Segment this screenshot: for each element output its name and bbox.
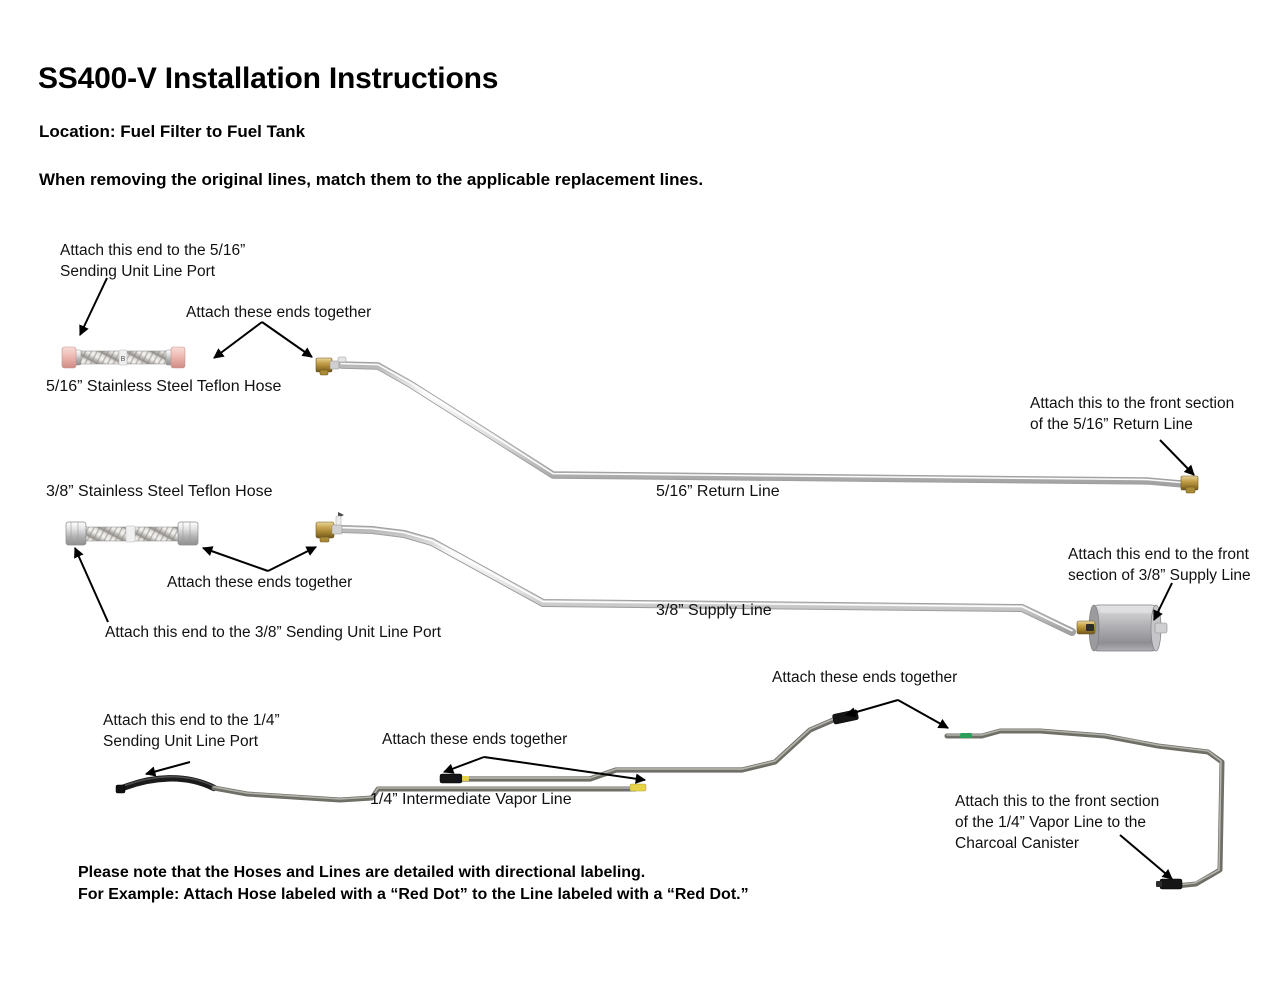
annotation-attach-ends-516: Attach these ends together xyxy=(186,302,371,323)
charcoal-canister-end-connector xyxy=(1156,879,1182,889)
part-label-line-38-supply: 3/8” Supply Line xyxy=(656,602,772,620)
arrow-attach-516-right xyxy=(262,322,312,357)
svg-text:B: B xyxy=(121,356,126,363)
page-title: SS400-V Installation Instructions xyxy=(38,62,498,96)
return-line-left-fitting xyxy=(316,358,339,375)
part-label-hose-38: 3/8” Stainless Steel Teflon Hose xyxy=(46,483,273,501)
matching-instruction-text: When removing the original lines, match … xyxy=(39,170,703,190)
hose-38-stainless-teflon xyxy=(66,522,198,545)
annotation-vapor-14-end: Attach this end to the 1/4” Sending Unit… xyxy=(103,710,280,752)
arrow-attach-14-mid-right xyxy=(484,757,645,780)
intermediate-vapor-left-connector xyxy=(440,774,469,783)
supply-line-left-fitting xyxy=(316,522,342,542)
arrow-vapor-14-end xyxy=(146,762,190,774)
annotation-attach-ends-14-right: Attach these ends together xyxy=(772,667,957,688)
location-subtitle: Location: Fuel Filter to Fuel Tank xyxy=(39,122,305,142)
arrow-hose-38-end xyxy=(75,548,108,622)
hose-38-left-fitting xyxy=(66,522,86,545)
return-line-right-fitting xyxy=(1181,476,1198,493)
annotation-attach-ends-14-mid: Attach these ends together xyxy=(382,729,567,750)
footer-note-line-2: For Example: Attach Hose labeled with a … xyxy=(78,882,749,907)
hose-516-stainless-teflon: B xyxy=(62,347,185,368)
hose-516-left-fitting xyxy=(62,347,76,368)
instruction-sheet-page: SS400-V Installation Instructions Locati… xyxy=(0,0,1280,989)
part-label-line-14-vapor: 1/4” Intermediate Vapor Line xyxy=(370,791,572,809)
hose-516-right-fitting xyxy=(171,347,185,368)
arrow-hose-516-end xyxy=(80,278,107,335)
arrow-attach-38-left xyxy=(203,548,268,571)
annotation-attach-ends-38: Attach these ends together xyxy=(167,572,352,593)
part-label-hose-516: 5/16” Stainless Steel Teflon Hose xyxy=(46,378,281,396)
arrow-attach-14-right-left xyxy=(846,700,898,715)
annotation-hose-38-end: Attach this end to the 3/8” Sending Unit… xyxy=(105,622,441,643)
annotation-hose-516-end: Attach this end to the 5/16” Sending Uni… xyxy=(60,240,245,282)
intermediate-vapor-right-connector xyxy=(832,709,859,724)
arrow-supply-line-front xyxy=(1154,583,1172,620)
annotation-return-line-front: Attach this to the front section of the … xyxy=(1030,393,1234,435)
annotation-supply-line-front: Attach this end to the front section of … xyxy=(1068,544,1251,586)
arrow-attach-14-right-right xyxy=(898,700,948,728)
arrow-attach-516-left xyxy=(214,322,262,358)
line-38-supply xyxy=(316,512,1167,651)
arrow-return-line-front xyxy=(1160,440,1194,475)
arrow-attach-14-mid-left xyxy=(444,757,484,772)
fuel-filter-canister xyxy=(1077,605,1167,651)
arrow-attach-38-right xyxy=(268,547,316,571)
hose-38-right-fitting xyxy=(178,522,198,545)
annotation-vapor-front-canister: Attach this to the front section of the … xyxy=(955,791,1159,854)
part-label-line-516-return: 5/16” Return Line xyxy=(656,483,780,501)
